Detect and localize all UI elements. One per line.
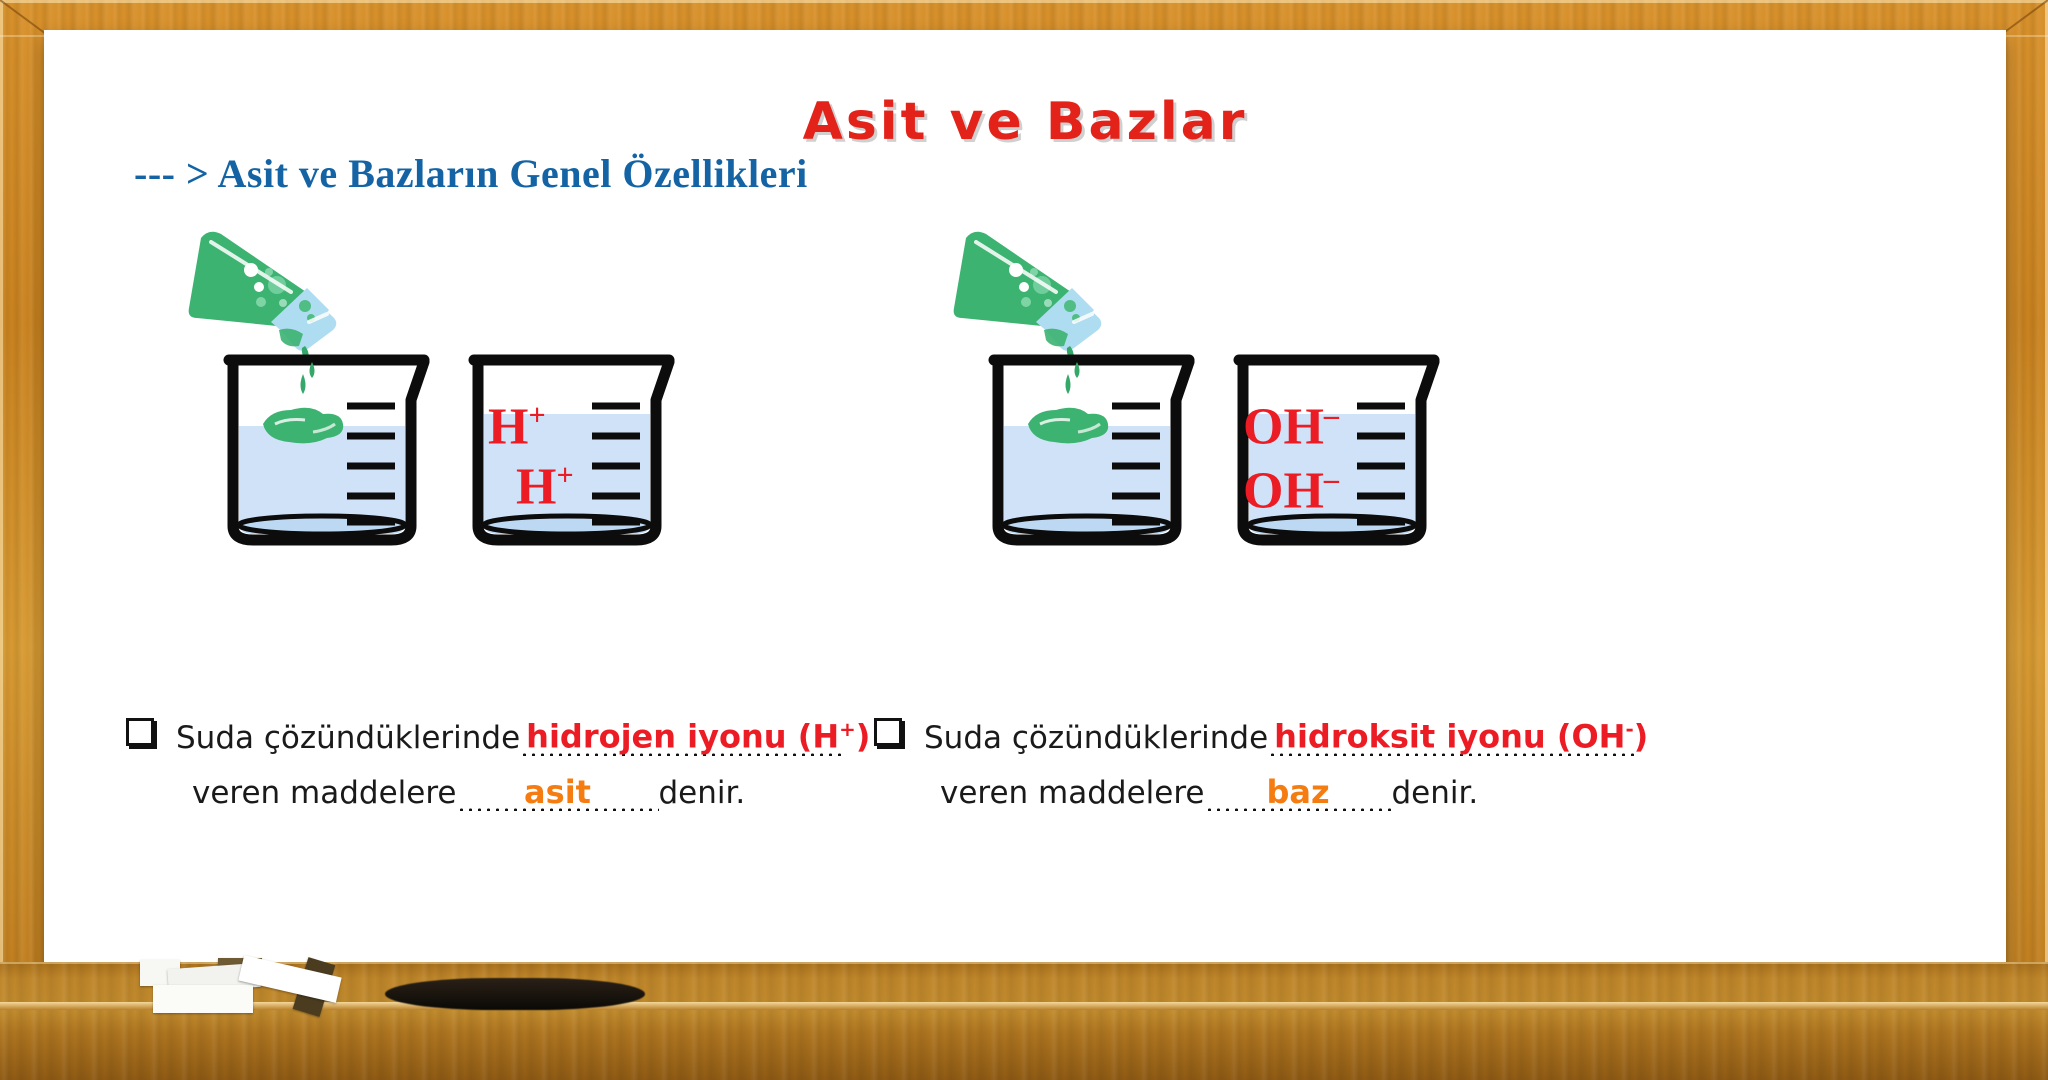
checkbox-bullet-icon <box>126 718 154 746</box>
base-blank-ion-tail: ) <box>1634 718 1649 756</box>
acid-statement-line-1: Suda çözündüklerinde hidrojen iyonu (H+) <box>126 720 846 754</box>
acid-line2-prefix: veren maddelere <box>192 778 457 809</box>
base-statement: Suda çözündüklerinde hidroksit iyonu (OH… <box>874 720 1634 809</box>
acid-line1-prefix: Suda çözündüklerinde <box>176 723 520 754</box>
falling-droplet-icon <box>302 358 322 388</box>
base-blank-ion[interactable]: hidroksit iyonu (OH-) <box>1268 720 1634 753</box>
acid-blank-ion-charge: + <box>839 718 856 741</box>
pouring-flask-icon <box>159 230 359 360</box>
beaker-water-base <box>984 348 1199 546</box>
board-eraser[interactable] <box>385 978 645 1010</box>
ion-label-h-plus-2: H+ <box>516 460 574 513</box>
beaker-acid-ions: H+ H+ <box>464 348 679 546</box>
acid-statement: Suda çözündüklerinde hidrojen iyonu (H+)… <box>126 720 846 809</box>
falling-droplet-icon <box>1067 358 1087 388</box>
base-blank-ion-charge: - <box>1625 718 1633 741</box>
ion-label-h-plus-1: H+ <box>488 400 546 453</box>
base-blank-ion-text: hidroksit iyonu (OH <box>1274 718 1625 756</box>
base-statement-line-1: Suda çözündüklerinde hidroksit iyonu (OH… <box>874 720 1634 754</box>
base-line2-suffix: denir. <box>1392 778 1479 809</box>
acid-line2-suffix: denir. <box>659 778 746 809</box>
acid-blank-ion-tail: ) <box>856 718 871 756</box>
acid-blank-ion[interactable]: hidrojen iyonu (H+) <box>520 720 846 753</box>
page-title: Asit ve Bazlar <box>44 92 2006 152</box>
chalk-piece[interactable] <box>153 985 253 1013</box>
beaker-base-ions: OH– OH– <box>1229 348 1444 546</box>
ion-label-oh-minus-2: OH– <box>1243 464 1339 517</box>
base-statement-line-2: veren maddelere baz denir. <box>874 776 1634 809</box>
base-line1-prefix: Suda çözündüklerinde <box>924 723 1268 754</box>
base-blank-name[interactable]: baz <box>1205 776 1392 808</box>
acid-statement-line-2: veren maddelere asit denir. <box>126 776 846 809</box>
base-blank-name-text: baz <box>1266 776 1329 808</box>
ion-label-oh-minus-1: OH– <box>1243 400 1339 453</box>
checkbox-bullet-icon <box>874 718 902 746</box>
acid-blank-ion-text: hidrojen iyonu (H <box>526 718 839 756</box>
base-apparatus-group: OH– OH– <box>924 230 1484 560</box>
acid-blank-name[interactable]: asit <box>457 776 659 808</box>
acid-apparatus-group: H+ H+ <box>159 230 719 560</box>
beaker-water-acid <box>219 348 434 546</box>
acid-blank-name-text: asit <box>524 776 591 808</box>
pouring-flask-icon <box>924 230 1124 360</box>
whiteboard: Asit ve Bazlar --- > Asit ve Bazların Ge… <box>44 30 2006 972</box>
base-line2-prefix: veren maddelere <box>940 778 1205 809</box>
section-subtitle: --- > Asit ve Bazların Genel Özellikleri <box>134 150 808 197</box>
